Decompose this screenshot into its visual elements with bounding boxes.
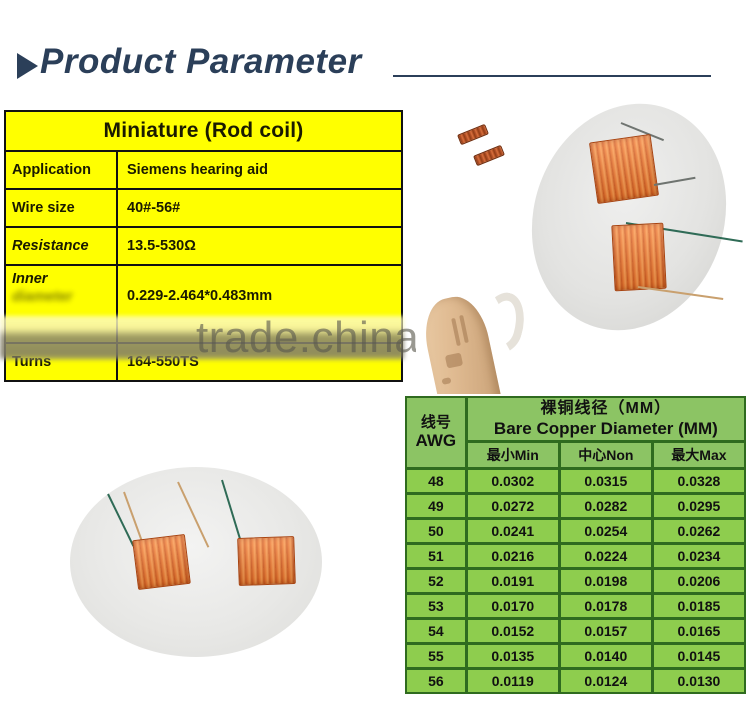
table-row: 55 0.0135 0.0140 0.0145 — [406, 644, 745, 668]
spec-value-resistance: 13.5-530Ω — [117, 227, 402, 265]
cell-min: 0.0135 — [467, 644, 559, 668]
subheader-non: 中心Non — [560, 442, 652, 468]
cell-min: 0.0241 — [467, 519, 559, 543]
table-row: Resistance 13.5-530Ω — [5, 227, 402, 265]
cell-min: 0.0170 — [467, 594, 559, 618]
table-row: Wire size 40#-56# — [5, 189, 402, 227]
copper-coil — [237, 536, 296, 586]
cell-awg: 56 — [406, 669, 466, 693]
spec-value-turns: 164-550TS — [117, 343, 402, 381]
cell-awg: 48 — [406, 469, 466, 493]
cell-non: 0.0254 — [560, 519, 652, 543]
cell-max: 0.0130 — [653, 669, 745, 693]
cell-max: 0.0165 — [653, 619, 745, 643]
table-row: 53 0.0170 0.0178 0.0185 — [406, 594, 745, 618]
cell-non: 0.0157 — [560, 619, 652, 643]
copper-coil — [611, 223, 666, 292]
cell-max: 0.0206 — [653, 569, 745, 593]
table-row: 49 0.0272 0.0282 0.0295 — [406, 494, 745, 518]
spec-key-inner-diameter: Inner diameter — [5, 265, 117, 343]
copper-coil — [589, 134, 659, 204]
awg-header-cn: 线号 — [409, 415, 463, 432]
cell-non: 0.0178 — [560, 594, 652, 618]
spec-table-title: Miniature (Rod coil) — [5, 111, 402, 151]
page-title: Product Parameter — [40, 42, 362, 82]
cell-max: 0.0145 — [653, 644, 745, 668]
spec-value-application: Siemens hearing aid — [117, 151, 402, 189]
cell-max: 0.0328 — [653, 469, 745, 493]
table-row: Turns 164-550TS — [5, 343, 402, 381]
title-divider — [393, 75, 711, 77]
cell-min: 0.0191 — [467, 569, 559, 593]
cell-awg: 54 — [406, 619, 466, 643]
spec-key-inner-line1: Inner — [12, 271, 110, 287]
cell-non: 0.0315 — [560, 469, 652, 493]
cell-min: 0.0272 — [467, 494, 559, 518]
rod-coil-small — [473, 145, 505, 166]
subheader-max: 最大Max — [653, 442, 745, 468]
spec-value-inner-diameter: 0.229-2.464*0.483mm — [117, 265, 402, 343]
spec-key-turns: Turns — [5, 343, 117, 381]
copper-coil — [132, 534, 191, 590]
table-row: Application Siemens hearing aid — [5, 151, 402, 189]
rod-coil-small — [457, 124, 489, 145]
cell-min: 0.0119 — [467, 669, 559, 693]
table-row: 51 0.0216 0.0224 0.0234 — [406, 544, 745, 568]
specification-table: Miniature (Rod coil) Application Siemens… — [4, 110, 403, 382]
table-row: 54 0.0152 0.0157 0.0165 — [406, 619, 745, 643]
hearing-aid-and-coils-photo — [416, 96, 749, 394]
table-row: 52 0.0191 0.0198 0.0206 — [406, 569, 745, 593]
awg-column-header: 线号 AWG — [406, 397, 466, 468]
subheader-min: 最小Min — [467, 442, 559, 468]
table-row: Inner diameter 0.229-2.464*0.483mm — [5, 265, 402, 343]
copper-coil-pair-photo — [2, 425, 390, 701]
cell-non: 0.0124 — [560, 669, 652, 693]
spec-value-wire-size: 40#-56# — [117, 189, 402, 227]
spec-key-wire-size: Wire size — [5, 189, 117, 227]
table-row: 48 0.0302 0.0315 0.0328 — [406, 469, 745, 493]
bare-copper-header-cn: 裸铜线径（MM） — [470, 400, 742, 419]
triangle-right-icon — [17, 53, 38, 79]
cell-max: 0.0262 — [653, 519, 745, 543]
cell-non: 0.0282 — [560, 494, 652, 518]
page-title-block: Product Parameter — [0, 22, 749, 78]
cell-awg: 51 — [406, 544, 466, 568]
bare-copper-header-en: Bare Copper Diameter (MM) — [470, 419, 742, 439]
spec-key-resistance: Resistance — [5, 227, 117, 265]
table-header-row: 线号 AWG 裸铜线径（MM） Bare Copper Diameter (MM… — [406, 397, 745, 441]
cell-min: 0.0152 — [467, 619, 559, 643]
cell-non: 0.0140 — [560, 644, 652, 668]
cell-max: 0.0234 — [653, 544, 745, 568]
cell-awg: 50 — [406, 519, 466, 543]
bare-copper-diameter-header: 裸铜线径（MM） Bare Copper Diameter (MM) — [467, 397, 745, 441]
cell-awg: 53 — [406, 594, 466, 618]
cell-awg: 55 — [406, 644, 466, 668]
cell-awg: 52 — [406, 569, 466, 593]
table-row: 56 0.0119 0.0124 0.0130 — [406, 669, 745, 693]
cell-max: 0.0185 — [653, 594, 745, 618]
table-row: 50 0.0241 0.0254 0.0262 — [406, 519, 745, 543]
cell-max: 0.0295 — [653, 494, 745, 518]
awg-header-en: AWG — [409, 431, 463, 450]
awg-wire-gauge-table: 线号 AWG 裸铜线径（MM） Bare Copper Diameter (MM… — [405, 396, 746, 694]
spec-key-inner-line2-blurred: diameter — [12, 289, 110, 305]
spec-key-application: Application — [5, 151, 117, 189]
cell-min: 0.0302 — [467, 469, 559, 493]
cell-awg: 49 — [406, 494, 466, 518]
table-row: Miniature (Rod coil) — [5, 111, 402, 151]
cell-min: 0.0216 — [467, 544, 559, 568]
product-parameter-page: Product Parameter Miniature (Rod coil) A… — [0, 0, 749, 701]
cell-non: 0.0198 — [560, 569, 652, 593]
cell-non: 0.0224 — [560, 544, 652, 568]
